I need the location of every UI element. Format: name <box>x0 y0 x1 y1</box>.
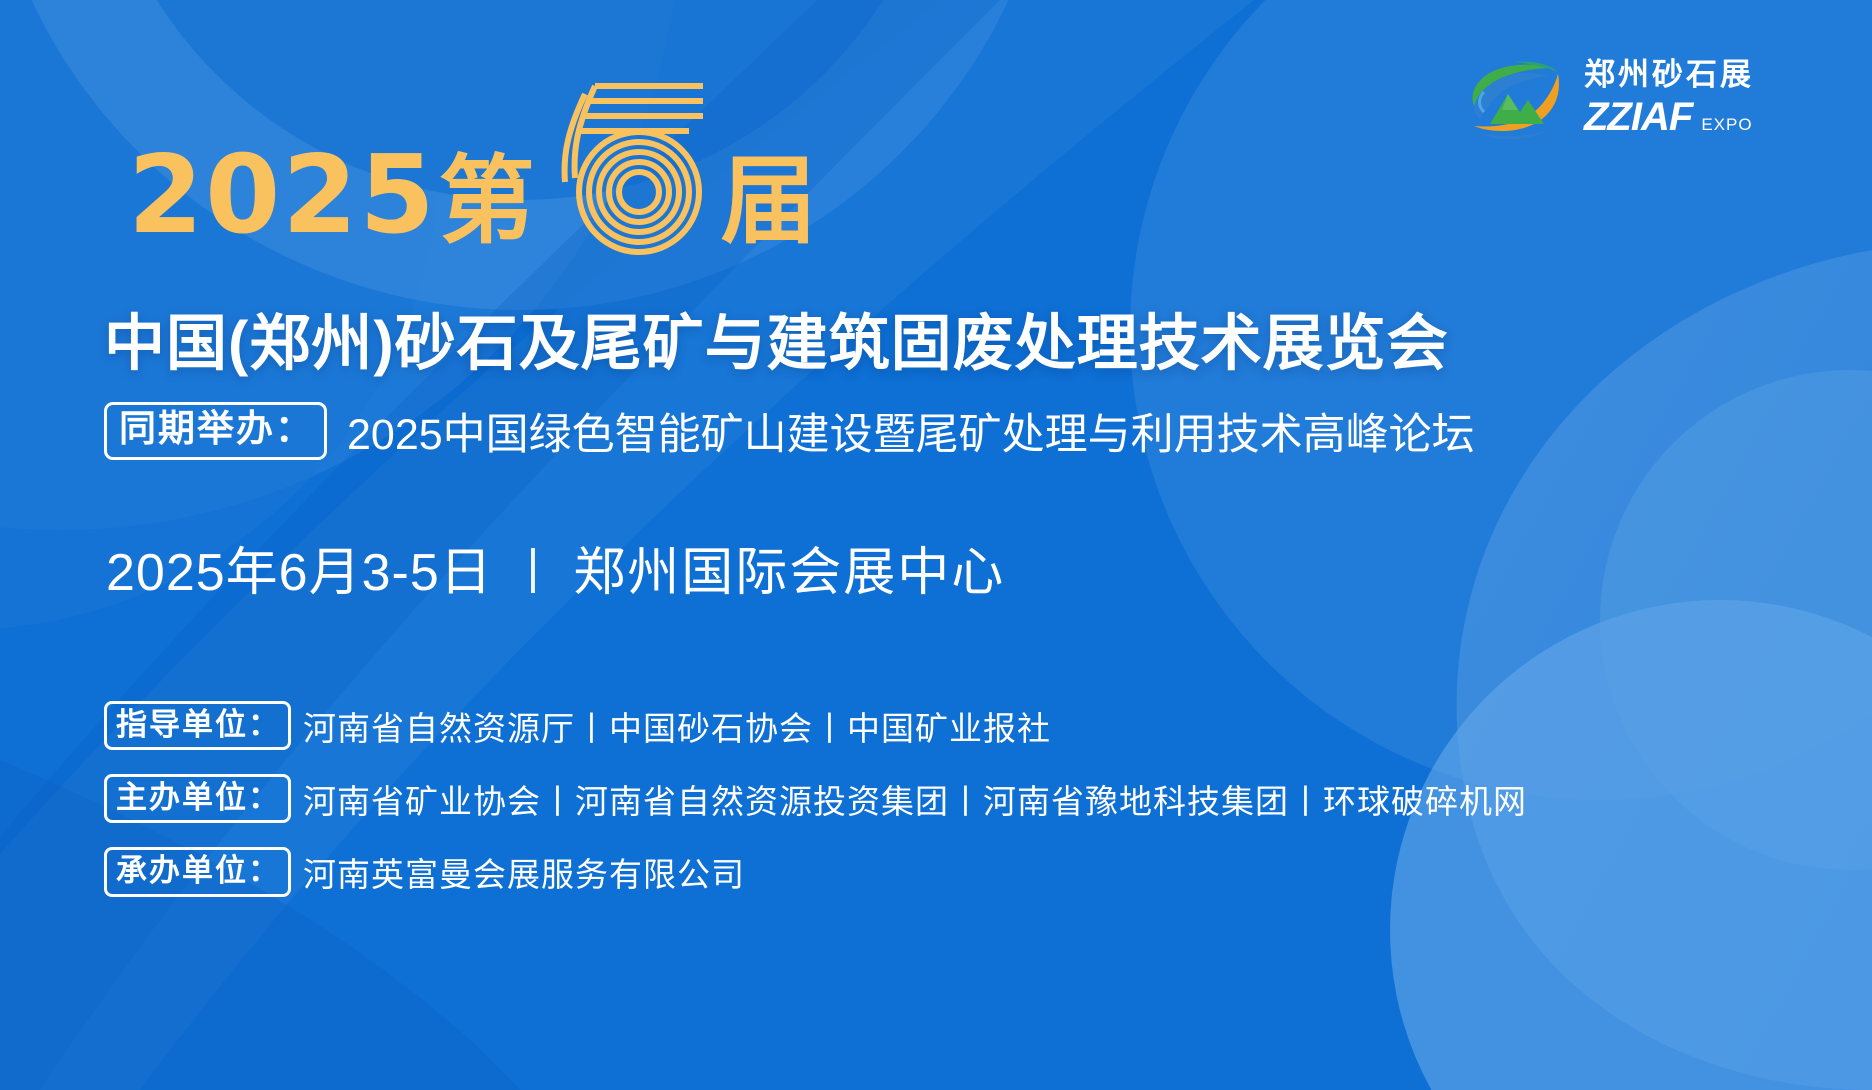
event-date: 2025年6月3-5日 <box>106 530 493 605</box>
mountain-river-logo-icon <box>1462 54 1570 142</box>
event-venue: 郑州国际会展中心 <box>573 530 1005 605</box>
organizer-list: 指导单位： 河南省自然资源厅丨中国砂石协会丨中国矿业报社 主办单位： 河南省矿业… <box>104 701 1527 897</box>
organizer-row-undertaker: 承办单位： 河南英富曼会展服务有限公司 <box>104 847 1527 896</box>
organizer-row-guidance: 指导单位： 河南省自然资源厅丨中国砂石协会丨中国矿业报社 <box>104 701 1527 750</box>
organizer-tag: 承办单位： <box>104 847 291 896</box>
headline: 2025 第 <box>128 130 817 250</box>
headline-ordinal-prefix: 第 <box>439 154 535 250</box>
exhibition-title: 中国(郑州)砂石及尾矿与建筑固废处理技术展览会 <box>104 293 1449 382</box>
logo-english-name: ZZIAF <box>1584 97 1692 137</box>
logo-chinese-name: 郑州砂石展 <box>1584 59 1754 90</box>
forum-tag-label: 同期举办： <box>104 402 327 460</box>
headline-year: 2025 <box>128 142 437 250</box>
organizer-value: 河南省矿业协会丨河南省自然资源投资集团丨河南省豫地科技集团丨环球破碎机网 <box>303 775 1527 823</box>
date-venue-separator: | <box>527 540 539 595</box>
organizer-tag: 指导单位： <box>104 701 291 750</box>
concurrent-forum: 同期举办： 2025中国绿色智能矿山建设暨尾矿处理与利用技术高峰论坛 <box>104 400 1475 462</box>
logo-expo-label: EXPO <box>1701 116 1752 133</box>
forum-title: 2025中国绿色智能矿山建设暨尾矿处理与利用技术高峰论坛 <box>347 400 1475 462</box>
event-logo: 郑州砂石展 ZZIAF EXPO <box>1462 48 1762 148</box>
organizer-value: 河南英富曼会展服务有限公司 <box>303 848 745 896</box>
event-date-venue: 2025年6月3-5日 | 郑州国际会展中心 <box>106 530 1005 605</box>
organizer-tag: 主办单位： <box>104 774 291 823</box>
edition-number-graphic <box>529 74 725 256</box>
headline-ordinal-suffix: 届 <box>721 154 817 250</box>
exhibition-banner: 郑州砂石展 ZZIAF EXPO 2025 第 <box>0 0 1872 1090</box>
organizer-row-host: 主办单位： 河南省矿业协会丨河南省自然资源投资集团丨河南省豫地科技集团丨环球破碎… <box>104 774 1527 823</box>
organizer-value: 河南省自然资源厅丨中国砂石协会丨中国矿业报社 <box>303 702 1051 750</box>
